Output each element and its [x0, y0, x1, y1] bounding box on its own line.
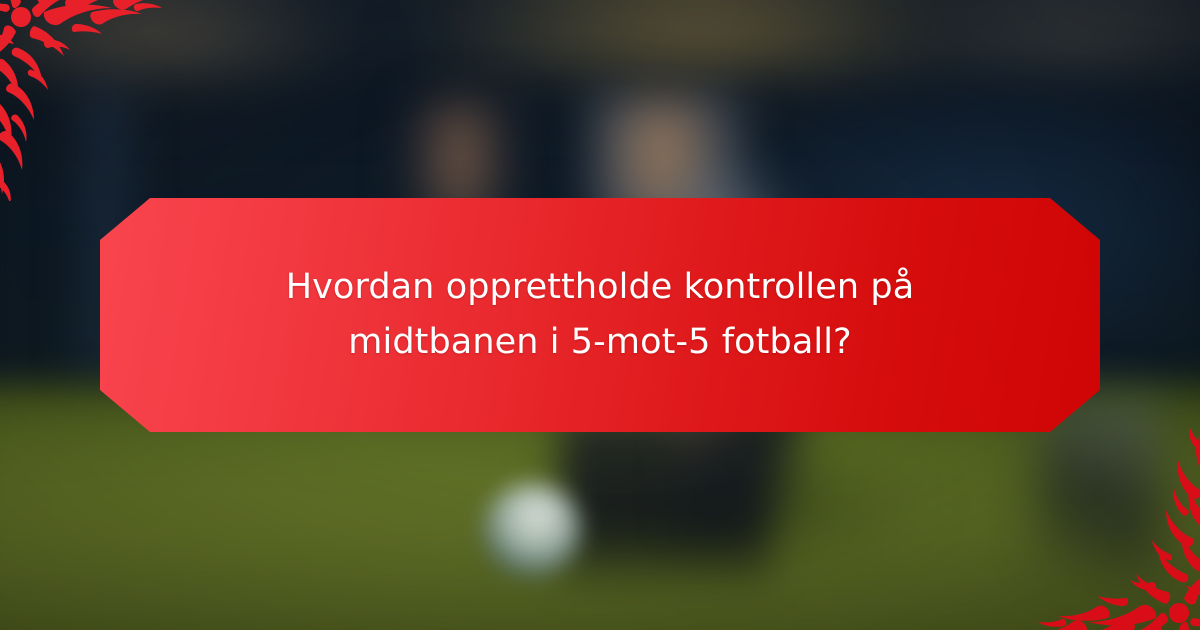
headline-banner: Hvordan opprettholde kontrollen på midtb…: [100, 198, 1100, 432]
share-card: Hvordan opprettholde kontrollen på midtb…: [0, 0, 1200, 630]
page-title: Hvordan opprettholde kontrollen på midtb…: [200, 260, 1000, 371]
